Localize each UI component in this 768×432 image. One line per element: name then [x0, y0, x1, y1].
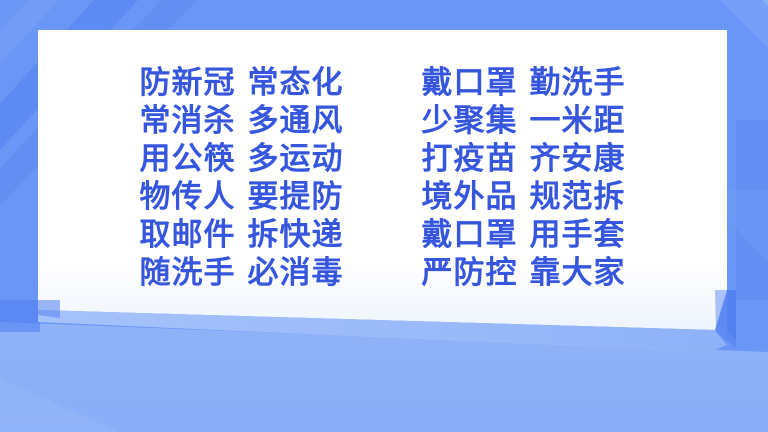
panel-corner-notch-shadow [727, 290, 736, 340]
content-panel [38, 30, 727, 330]
panel-left-tab [38, 300, 60, 318]
slide-canvas: 防新冠 常态化 常消杀 多通风 用公筷 多运动 物传人 要提防 取邮件 拆快 [0, 0, 768, 432]
background-artwork [0, 0, 768, 432]
